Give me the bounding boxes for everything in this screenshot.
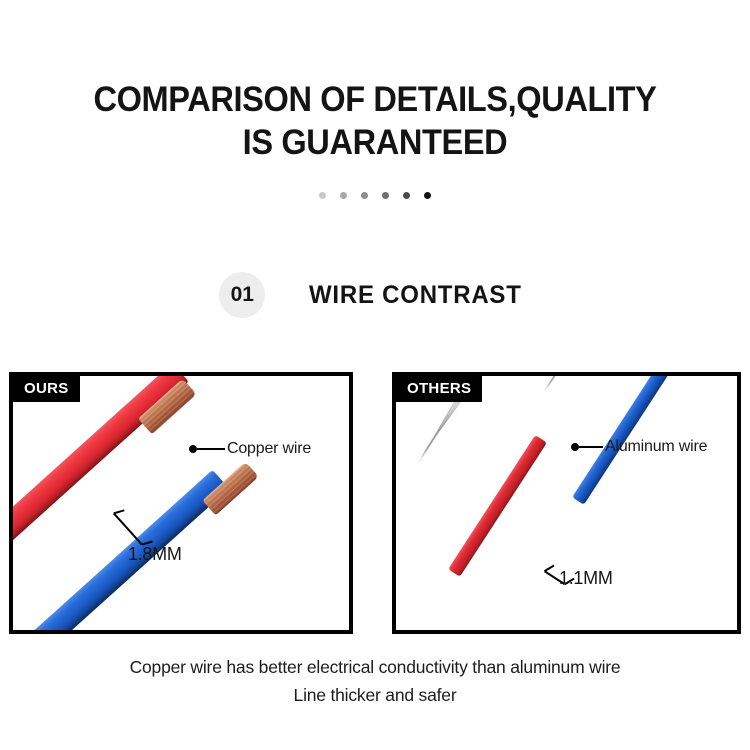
callout-label-aluminum: Aluminum wire bbox=[605, 438, 707, 456]
aluminum-strand bbox=[550, 376, 600, 383]
panel-tab-others: OTHERS bbox=[396, 376, 482, 402]
aluminum-strand bbox=[552, 376, 605, 378]
page-title: COMPARISON OF DETAILS,QUALITY IS GUARANT… bbox=[26, 78, 724, 164]
measurement-label-others: 1.1MM bbox=[559, 568, 613, 589]
aluminum-strand bbox=[553, 376, 599, 379]
progress-dot bbox=[319, 192, 326, 199]
progress-dot bbox=[340, 192, 347, 199]
aluminum-strand bbox=[547, 376, 601, 388]
callout-dot-icon bbox=[189, 445, 197, 453]
infographic-page: COMPARISON OF DETAILS,QUALITY IS GUARANT… bbox=[0, 0, 750, 750]
progress-dots bbox=[0, 192, 750, 199]
aluminum-strand bbox=[549, 376, 603, 383]
progress-dot bbox=[424, 192, 431, 199]
callout-aluminum-wire: Aluminum wire bbox=[571, 438, 707, 456]
section-header: 01 WIRE CONTRAST bbox=[0, 272, 750, 318]
aluminum-strand bbox=[547, 376, 603, 387]
progress-dot bbox=[361, 192, 368, 199]
panel-tab-ours: OURS bbox=[13, 376, 80, 402]
wire-photo-ours: Copper wire 1.8MM bbox=[13, 376, 349, 630]
callout-label-copper: Copper wire bbox=[227, 440, 311, 458]
callout-copper-wire: Copper wire bbox=[189, 440, 311, 458]
measurement-label-ours: 1.8MM bbox=[128, 544, 182, 565]
progress-dot bbox=[382, 192, 389, 199]
panel-ours: OURS Copper wire 1.8MM bbox=[9, 372, 353, 634]
wire-photo-others: Aluminum wire 1.1MM bbox=[396, 376, 737, 630]
red-wire-insulation-others bbox=[448, 435, 547, 577]
section-number-badge: 01 bbox=[219, 272, 265, 318]
callout-leader-line bbox=[197, 448, 225, 450]
caliper-bracket-icon bbox=[113, 513, 143, 546]
callout-leader-line bbox=[579, 446, 603, 448]
progress-dot bbox=[403, 192, 410, 199]
aluminum-strands-blue bbox=[540, 376, 605, 394]
panel-others: OTHERS Aluminum wire 1.1MM bbox=[392, 372, 741, 634]
section-title: WIRE CONTRAST bbox=[309, 281, 522, 310]
callout-dot-icon bbox=[571, 443, 579, 451]
caption-text: Copper wire has better electrical conduc… bbox=[0, 653, 750, 709]
